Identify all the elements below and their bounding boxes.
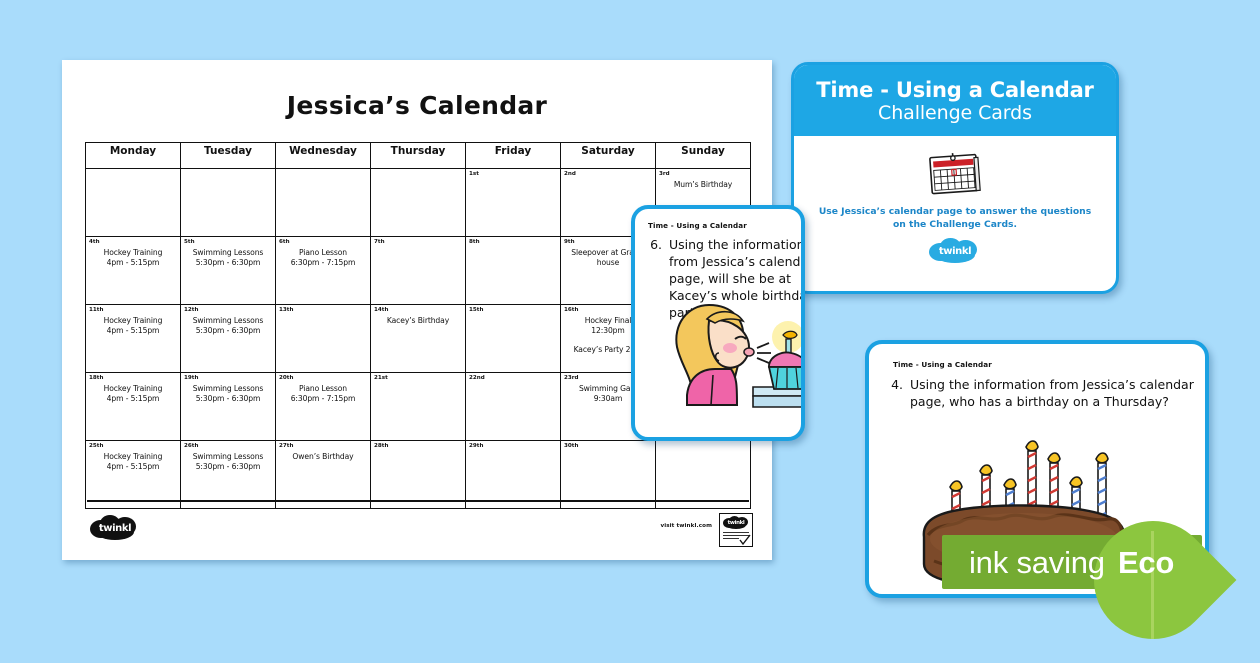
calendar-icon (925, 150, 985, 198)
calendar-day-cell[interactable]: 19thSwimming Lessons5:30pm - 6:30pm (181, 373, 276, 441)
day-number: 29th (469, 443, 557, 450)
day-event-line: Piano Lesson (279, 384, 367, 394)
calendar-day-cell[interactable]: 11thHockey Training4pm - 5:15pm (86, 305, 181, 373)
calendar-day-cell[interactable] (181, 169, 276, 237)
question-number: 4. (882, 376, 910, 410)
day-event-line: Swimming Lessons (184, 384, 272, 394)
calendar-day-cell[interactable]: 18thHockey Training4pm - 5:15pm (86, 373, 181, 441)
day-number: 27th (279, 443, 367, 450)
calendar-day-cell[interactable] (371, 169, 466, 237)
day-event-line: Owen’s Birthday (279, 452, 367, 462)
visit-url-text: visit twinkl.com (660, 523, 712, 529)
day-event-line: 5:30pm - 6:30pm (184, 462, 272, 472)
footer-divider (87, 500, 749, 502)
column-header-thursday: Thursday (371, 143, 466, 169)
day-event-line: 6:30pm - 7:15pm (279, 394, 367, 404)
calendar-day-cell[interactable]: 6thPiano Lesson6:30pm - 7:15pm (276, 237, 371, 305)
calendar-day-cell[interactable]: 22nd (466, 373, 561, 441)
calendar-day-cell[interactable] (86, 169, 181, 237)
day-number: 13th (279, 307, 367, 314)
calendar-day-cell[interactable]: 1st (466, 169, 561, 237)
day-number: 11th (89, 307, 177, 314)
day-number: 2nd (564, 171, 652, 178)
day-event-line: 4pm - 5:15pm (89, 462, 177, 472)
instruction-text: Use Jessica’s calendar page to answer th… (815, 205, 1095, 231)
challenge-cards-title-card[interactable]: Time - Using a Calendar Challenge Cards (791, 62, 1119, 294)
calendar-day-cell[interactable]: 29th (466, 441, 561, 509)
day-number: 6th (279, 239, 367, 246)
page-title: Jessica’s Calendar (62, 91, 772, 120)
check-mark-icon (739, 534, 751, 546)
day-event-line: Hockey Training (89, 248, 177, 258)
calendar-day-cell[interactable]: 30th (561, 441, 656, 509)
column-header-wednesday: Wednesday (276, 143, 371, 169)
calendar-day-cell[interactable]: 26thSwimming Lessons5:30pm - 6:30pm (181, 441, 276, 509)
day-number: 12th (184, 307, 272, 314)
calendar-day-cell[interactable]: 20thPiano Lesson6:30pm - 7:15pm (276, 373, 371, 441)
calendar-day-cell[interactable]: 21st (371, 373, 466, 441)
day-event-line: Hockey Training (89, 384, 177, 394)
day-number: 25th (89, 443, 177, 450)
calendar-day-cell[interactable]: 25thHockey Training4pm - 5:15pm (86, 441, 181, 509)
day-event-line: 5:30pm - 6:30pm (184, 326, 272, 336)
day-number: 7th (374, 239, 462, 246)
card-eyebrow: Time - Using a Calendar (648, 221, 747, 230)
calendar-day-cell[interactable]: 5thSwimming Lessons5:30pm - 6:30pm (181, 237, 276, 305)
challenge-card-6[interactable]: Time - Using a Calendar 6. Using the inf… (631, 205, 805, 441)
day-number: 1st (469, 171, 557, 178)
calendar-day-cell[interactable]: 27thOwen’s Birthday (276, 441, 371, 509)
calendar-day-cell[interactable]: 8th (466, 237, 561, 305)
day-event-line: 5:30pm - 6:30pm (184, 394, 272, 404)
day-event-line: Swimming Lessons (184, 316, 272, 326)
calendar-day-cell[interactable] (276, 169, 371, 237)
day-event-line: Hockey Training (89, 452, 177, 462)
day-number: 28th (374, 443, 462, 450)
calendar-week-row: 25thHockey Training4pm - 5:15pm26thSwimm… (86, 441, 751, 509)
column-header-sunday: Sunday (656, 143, 751, 169)
calendar-day-cell[interactable] (656, 441, 751, 509)
day-event-line: 4pm - 5:15pm (89, 326, 177, 336)
twinkl-wordmark: twinkl (90, 515, 140, 541)
day-number: 3rd (659, 171, 747, 178)
column-header-friday: Friday (466, 143, 561, 169)
ink-saving-eco-badge: ink saving Eco (942, 531, 1260, 593)
day-number: 4th (89, 239, 177, 246)
calendar-day-cell[interactable]: 12thSwimming Lessons5:30pm - 6:30pm (181, 305, 276, 373)
column-header-saturday: Saturday (561, 143, 656, 169)
screenshot-stage: Jessica’s Calendar Monday Tuesday Wednes… (0, 0, 1260, 630)
day-event-line: Piano Lesson (279, 248, 367, 258)
twinkl-stamp-icon: twinkl (719, 513, 753, 547)
day-event-line: 5:30pm - 6:30pm (184, 258, 272, 268)
card-eyebrow: Time - Using a Calendar (893, 360, 992, 369)
twinkl-wordmark: twinkl (929, 238, 981, 264)
calendar-day-cell[interactable]: 13th (276, 305, 371, 373)
title-heading-line1: Time - Using a Calendar (816, 78, 1093, 102)
title-heading-line2: Challenge Cards (878, 102, 1032, 125)
card-question: 4. Using the information from Jessica’s … (882, 376, 1197, 410)
day-event-line: Hockey Training (89, 316, 177, 326)
day-number: 21st (374, 375, 462, 382)
day-event-line: 4pm - 5:15pm (89, 258, 177, 268)
twinkl-logo-footer: twinkl (90, 515, 140, 541)
column-header-monday: Monday (86, 143, 181, 169)
day-number: 18th (89, 375, 177, 382)
day-number: 20th (279, 375, 367, 382)
question-text: Using the information from Jessica’s cal… (910, 376, 1197, 410)
eco-word: Eco (1118, 545, 1174, 581)
day-number: 19th (184, 375, 272, 382)
calendar-day-cell[interactable]: 28th (371, 441, 466, 509)
calendar-day-cell[interactable]: 7th (371, 237, 466, 305)
calendar-header-row: Monday Tuesday Wednesday Thursday Friday… (86, 143, 751, 169)
day-event-line: Kacey’s Birthday (374, 316, 462, 326)
title-card-body: Use Jessica’s calendar page to answer th… (794, 136, 1116, 287)
day-event-line: 4pm - 5:15pm (89, 394, 177, 404)
day-number: 15th (469, 307, 557, 314)
day-event-line: 6:30pm - 7:15pm (279, 258, 367, 268)
calendar-day-cell[interactable]: 14thKacey’s Birthday (371, 305, 466, 373)
calendar-day-cell[interactable]: 15th (466, 305, 561, 373)
day-number: 30th (564, 443, 652, 450)
day-number: 26th (184, 443, 272, 450)
calendar-day-cell[interactable]: 4thHockey Training4pm - 5:15pm (86, 237, 181, 305)
title-banner: Time - Using a Calendar Challenge Cards (794, 65, 1116, 136)
day-event-line: Swimming Lessons (184, 452, 272, 462)
day-number: 22nd (469, 375, 557, 382)
day-number: 8th (469, 239, 557, 246)
eco-label: ink saving (969, 545, 1105, 581)
day-number: 5th (184, 239, 272, 246)
day-number: 14th (374, 307, 462, 314)
column-header-tuesday: Tuesday (181, 143, 276, 169)
day-event-line: Swimming Lessons (184, 248, 272, 258)
twinkl-logo-title-card: twinkl (929, 238, 981, 269)
day-event-line: Mum’s Birthday (659, 180, 747, 190)
girl-blowing-candle-icon (657, 295, 805, 421)
